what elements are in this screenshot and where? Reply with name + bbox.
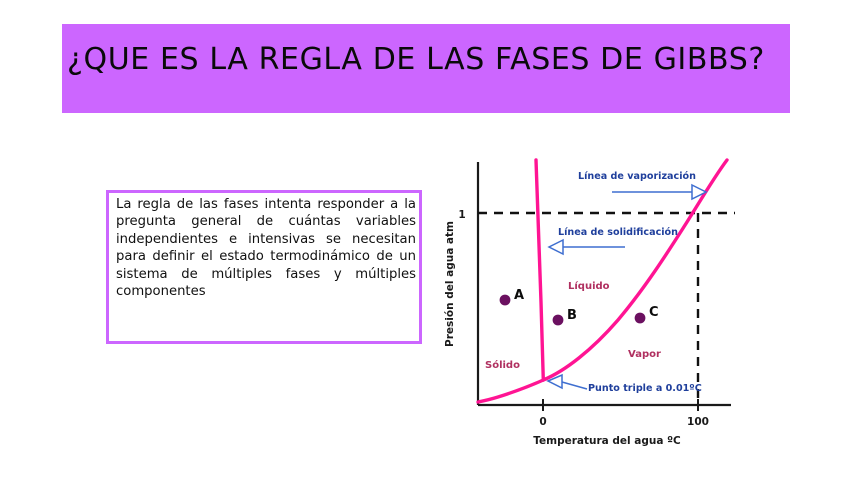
body-text-box: La regla de las fases intenta responder … <box>106 190 422 344</box>
solidificacion-annotation-text: Línea de solidificación <box>558 226 678 238</box>
phase-diagram-figure: Sólido Líquido Vapor A B C Línea de vapo… <box>440 152 745 452</box>
point-b <box>553 315 564 326</box>
point-c <box>635 313 646 324</box>
solidificacion-annotation-group: Línea de solidificación <box>549 226 678 254</box>
x-tick-label-0: 0 <box>539 416 546 428</box>
title-banner: ¿QUE ES LA REGLA DE LAS FASES DE GIBBS? <box>62 24 790 113</box>
vaporizacion-annotation-group: Línea de vaporización <box>578 170 706 199</box>
vaporizacion-annotation-text: Línea de vaporización <box>578 170 696 182</box>
page-title: ¿QUE ES LA REGLA DE LAS FASES DE GIBBS? <box>67 40 785 80</box>
point-a <box>500 295 511 306</box>
x-axis-title: Temperatura del agua ºC <box>533 435 681 447</box>
punto-triple-annotation-line <box>562 382 587 389</box>
body-paragraph: La regla de las fases intenta responder … <box>116 196 416 300</box>
y-tick-label-1: 1 <box>458 209 465 221</box>
x-tick-label-100: 100 <box>687 416 709 428</box>
punto-triple-annotation-text: Punto triple a 0.01ºC <box>588 383 702 394</box>
sublimation-curve <box>478 380 543 402</box>
data-points-group: A B C <box>500 288 659 325</box>
vapor-region-label: Vapor <box>628 349 661 360</box>
point-c-label: C <box>649 305 659 320</box>
phase-diagram-svg: Sólido Líquido Vapor A B C Línea de vapo… <box>440 152 745 452</box>
solidificacion-arrow-icon <box>549 240 563 254</box>
point-b-label: B <box>567 308 577 323</box>
slide-canvas: ¿QUE ES LA REGLA DE LAS FASES DE GIBBS? … <box>0 0 848 477</box>
fusion-curve <box>536 160 543 380</box>
solido-region-label: Sólido <box>485 359 520 371</box>
punto-triple-annotation-group: Punto triple a 0.01ºC <box>548 375 702 394</box>
liquido-region-label: Líquido <box>568 280 610 292</box>
point-a-label: A <box>514 288 524 303</box>
reference-lines-group <box>478 213 735 402</box>
y-axis-title: Presión del agua atm <box>444 221 456 347</box>
